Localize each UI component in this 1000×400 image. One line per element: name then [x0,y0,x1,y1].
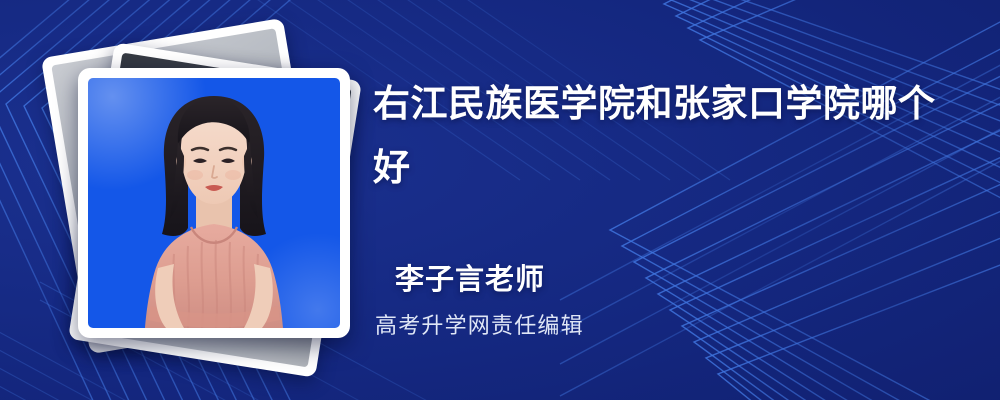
portrait-photo [88,78,340,328]
article-banner: 右江民族医学院和张家口学院哪个好 李子言老师 高考升学网责任编辑 [0,0,1000,400]
author-name: 李子言老师 [373,262,933,298]
author-role: 高考升学网责任编辑 [373,310,933,342]
photo-card-front [78,68,350,338]
byline: 李子言老师 高考升学网责任编辑 [373,262,933,342]
photo-card-stack [58,38,358,368]
page-title: 右江民族医学院和张家口学院哪个好 [373,72,953,200]
portrait-illustration [88,78,340,328]
text-column: 右江民族医学院和张家口学院哪个好 李子言老师 高考升学网责任编辑 [373,0,973,400]
